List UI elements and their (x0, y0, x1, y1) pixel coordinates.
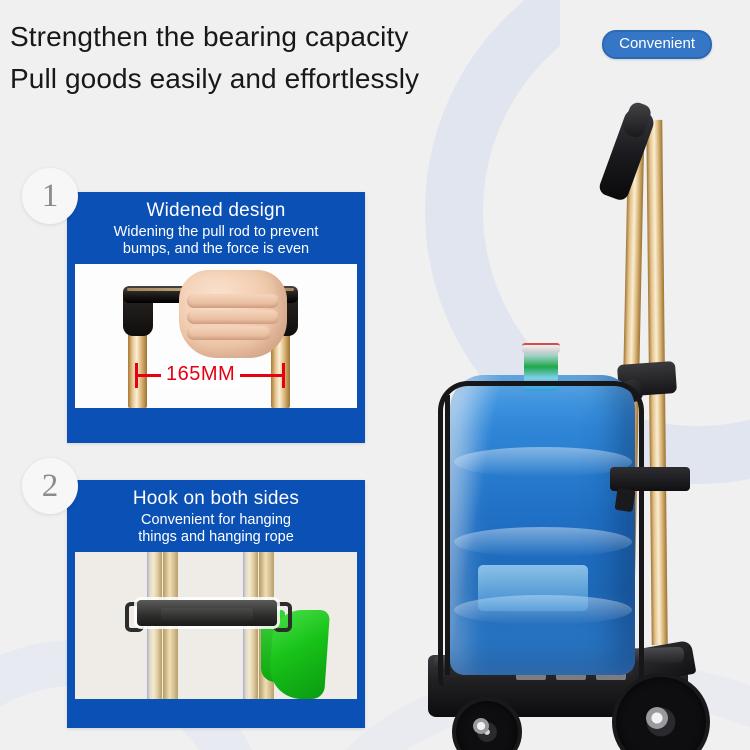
feature-card-1-subtitle-line-2: bumps, and the force is even (73, 241, 359, 258)
feature-card-2-subtitle-line-2: things and hanging rope (73, 529, 359, 546)
feature-card-1-title: Widened design (73, 199, 359, 223)
feature-card-1-subtitle-line-1: Widening the pull rod to prevent (73, 224, 359, 241)
feature-card-1-header: Widened design Widening the pull rod to … (67, 192, 365, 264)
feature-card-1-photo: 165MM (75, 264, 357, 408)
product-cargo-frame (438, 381, 644, 686)
headline: Strengthen the bearing capacity Pull goo… (10, 16, 530, 100)
feature-card-1: Widened design Widening the pull rod to … (67, 192, 365, 443)
product-rear-wheel-hub (646, 707, 668, 729)
measure-endcap-right (282, 363, 285, 388)
product-cargo-frame-post (445, 395, 450, 675)
convenient-badge: Convenient (602, 30, 712, 59)
measure-endcap-left (135, 363, 138, 388)
side-hook-photo (75, 552, 357, 699)
handle-width-photo: 165MM (75, 264, 357, 408)
feature-card-2-subtitle: Convenient for hanging things and hangin… (73, 512, 359, 546)
feature-card-2-header: Hook on both sides Convenient for hangin… (67, 480, 365, 552)
feature-card-2-photo (75, 552, 357, 699)
feature-card-2: Hook on both sides Convenient for hangin… (67, 480, 365, 728)
product-front-wheel-hub (473, 718, 489, 734)
product-photo-trolley-with-water-jug (420, 95, 750, 750)
finger-3 (187, 326, 271, 340)
feature-card-2-subtitle-line-1: Convenient for hanging (73, 512, 359, 529)
product-infographic: Strengthen the bearing capacity Pull goo… (0, 0, 750, 750)
feature-number-badge-1: 1 (22, 168, 78, 224)
product-cargo-strap-tail (615, 488, 636, 512)
feature-number-badge-2: 2 (22, 458, 78, 514)
finger-1 (187, 294, 279, 308)
feature-card-2-title: Hook on both sides (73, 487, 359, 511)
finger-2 (187, 310, 279, 324)
headline-line-1: Strengthen the bearing capacity (10, 16, 530, 58)
measure-label: 165MM (161, 361, 240, 388)
product-cargo-strap (610, 467, 690, 491)
hook-crossbar-center (161, 608, 253, 621)
water-jug-cap (522, 343, 560, 353)
feature-card-1-subtitle: Widening the pull rod to prevent bumps, … (73, 224, 359, 258)
headline-line-2: Pull goods easily and effortlessly (10, 58, 530, 100)
